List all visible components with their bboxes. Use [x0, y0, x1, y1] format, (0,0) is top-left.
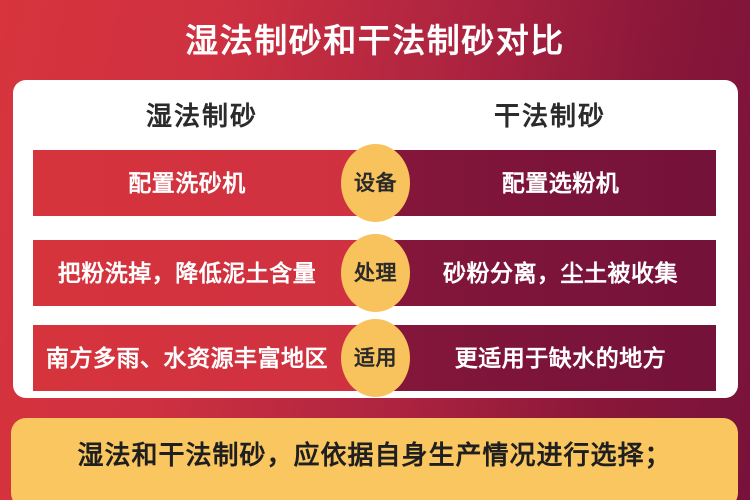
comparison-category-badge: 处理: [341, 234, 410, 312]
comparison-value-dry: 配置选粉机: [472, 172, 620, 195]
comparison-row: 配置洗砂机 配置选粉机 设备: [33, 150, 716, 216]
footer-note-text: 湿法和干法制砂，应依据自身生产情况进行选择；: [77, 440, 671, 471]
comparison-cell-dry: 更适用于缺水的地方: [375, 325, 716, 391]
comparison-value-wet: 南方多雨、水资源丰富地区: [46, 347, 362, 370]
column-header-row: 湿法制砂 干法制砂: [13, 96, 738, 142]
comparison-category-badge: 适用: [341, 319, 410, 397]
comparison-category-label: 适用: [354, 348, 397, 369]
comparison-cell-dry: 配置选粉机: [375, 150, 716, 216]
column-header-dry: 干法制砂: [403, 96, 697, 136]
comparison-cell-dry: 砂粉分离，尘土被收集: [375, 240, 716, 306]
comparison-category-label: 处理: [354, 263, 397, 284]
comparison-cell-wet: 把粉洗掉，降低泥土含量: [33, 240, 375, 306]
comparison-card: 湿法制砂 干法制砂 配置洗砂机 配置选粉机 设备 把粉洗掉，降低泥土含量: [13, 80, 738, 398]
comparison-value-wet: 配置洗砂机: [128, 172, 280, 195]
comparison-row: 南方多雨、水资源丰富地区 更适用于缺水的地方 适用: [33, 325, 716, 391]
column-header-wet: 湿法制砂: [55, 96, 349, 136]
comparison-category-badge: 设备: [341, 144, 410, 222]
comparison-cell-wet: 南方多雨、水资源丰富地区: [33, 325, 375, 391]
page-title: 湿法制砂和干法制砂对比: [185, 24, 565, 57]
comparison-cell-wet: 配置洗砂机: [33, 150, 375, 216]
comparison-value-dry: 砂粉分离，尘土被收集: [413, 262, 678, 285]
title-bar: 湿法制砂和干法制砂对比: [0, 0, 750, 80]
comparison-row: 把粉洗掉，降低泥土含量 砂粉分离，尘土被收集 处理: [33, 240, 716, 306]
comparison-category-label: 设备: [354, 173, 397, 194]
comparison-value-wet: 把粉洗掉，降低泥土含量: [58, 262, 351, 285]
footer-note: 湿法和干法制砂，应依据自身生产情况进行选择；: [11, 418, 738, 500]
comparison-value-dry: 更适用于缺水的地方: [425, 347, 667, 370]
infographic-poster: 湿法制砂和干法制砂对比 湿法制砂 干法制砂 配置洗砂机 配置选粉机 设备: [0, 0, 750, 500]
